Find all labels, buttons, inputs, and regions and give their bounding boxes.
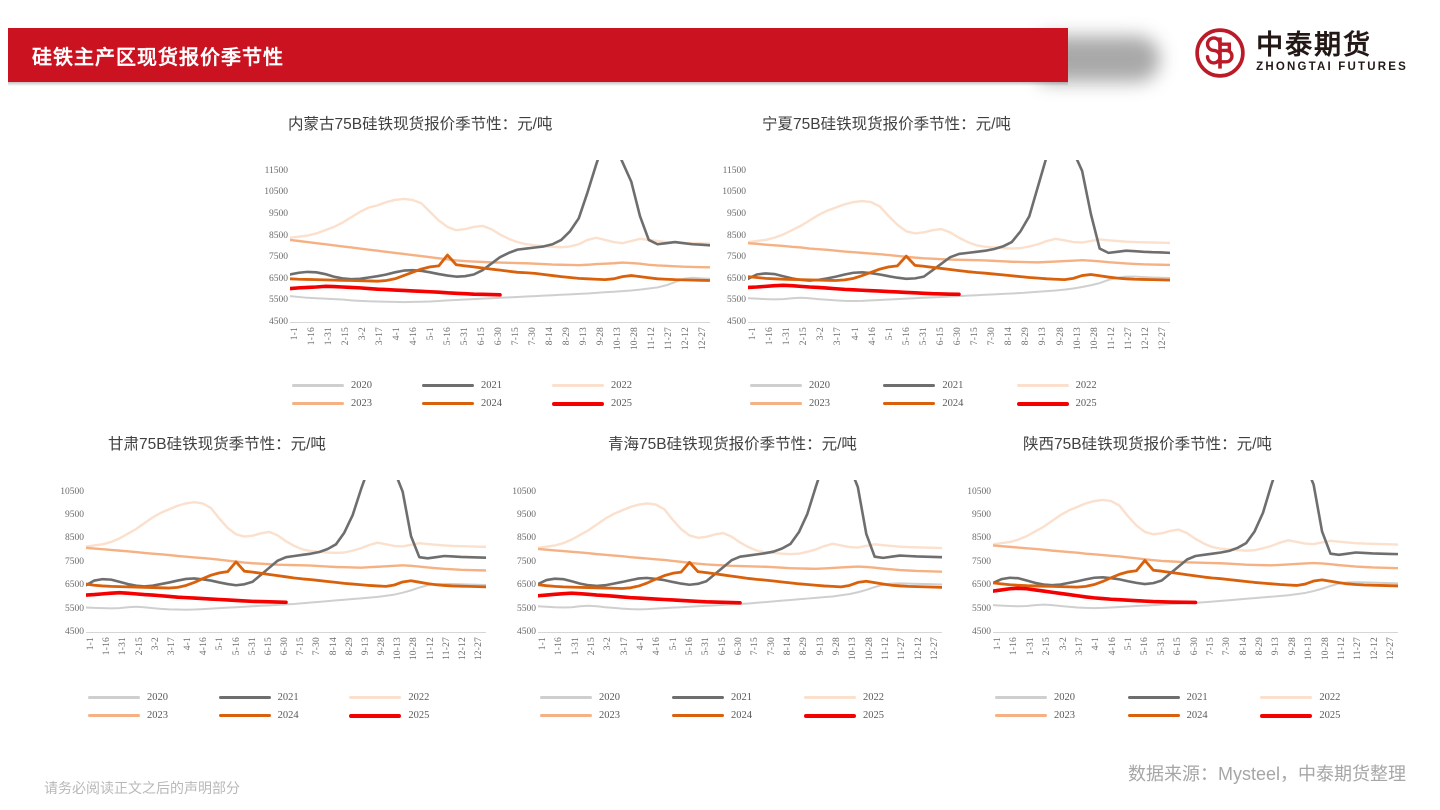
x-tick-label: 1-1 <box>748 327 758 340</box>
x-tick-label: 7-15 <box>1206 637 1216 655</box>
legend-label: 2025 <box>408 710 429 721</box>
x-tick-label: 5-1 <box>215 637 225 650</box>
series-line-2023 <box>290 240 710 267</box>
legend-swatch-2021 <box>672 696 724 699</box>
x-tick-label: 5-1 <box>426 327 436 340</box>
x-tick-label: 3-2 <box>358 327 368 340</box>
x-tick-label: 9-28 <box>1288 637 1298 655</box>
chart-block-gansu: 甘肃75B硅铁现货季节性：元/吨105009500850075006500550… <box>38 432 326 454</box>
y-tick-label: 6500 <box>269 274 288 284</box>
x-tick-label: 12-27 <box>1158 327 1168 350</box>
legend-label: 2021 <box>942 380 963 391</box>
series-line-2022 <box>290 199 710 247</box>
series-line-2022 <box>538 503 942 554</box>
title-bar-underline <box>8 82 1068 86</box>
series-line-2023 <box>538 549 942 572</box>
legend-label: 2020 <box>599 692 620 703</box>
legend-label: 2021 <box>731 692 752 703</box>
x-tick-label: 11-12 <box>647 327 657 350</box>
x-tick-label: 5-16 <box>685 637 695 655</box>
x-tick-label: 6-15 <box>1173 637 1183 655</box>
legend-label: 2022 <box>1076 380 1097 391</box>
y-tick-label: 6500 <box>727 274 746 284</box>
series-line-2022 <box>748 201 1170 249</box>
y-tick-label: 8500 <box>972 533 991 543</box>
series-line-2022 <box>993 500 1398 551</box>
x-tick-label: 8-14 <box>1004 327 1014 345</box>
legend-label: 2022 <box>1319 692 1340 703</box>
x-tick-label: 9-28 <box>832 637 842 655</box>
legend-item-2020[interactable]: 2020 <box>540 692 672 703</box>
chart-title: 宁夏75B硅铁现货报价季节性：元/吨 <box>762 112 1011 134</box>
x-tick-label: 1-16 <box>1009 637 1019 655</box>
legend-label: 2023 <box>351 398 372 409</box>
x-tick-label: 5-31 <box>701 637 711 655</box>
series-line-2025 <box>993 588 1196 602</box>
y-axis-labels: 10500950085007500650055004500 <box>42 480 90 632</box>
legend-item-2020[interactable]: 2020 <box>292 380 422 391</box>
legend-swatch-2020 <box>88 696 140 698</box>
page-header: 硅铁主产区现货报价季节性 中泰期货 ZHONGTAI FUTURES <box>0 0 1440 100</box>
series-line-2021 <box>290 160 710 279</box>
x-tick-label: 9-13 <box>361 637 371 655</box>
plot-area: 11500105009500850075006500550045001-11-1… <box>290 160 710 322</box>
x-tick-label: 12-12 <box>914 637 924 660</box>
logo-wordmark: 中泰期货 ZHONGTAI FUTURES <box>1256 31 1408 74</box>
x-tick-label: 6-15 <box>477 327 487 345</box>
x-tick-label: 7-15 <box>511 327 521 345</box>
x-axis-labels: 1-11-161-312-153-23-174-14-165-15-165-31… <box>290 327 710 367</box>
x-axis-labels: 1-11-161-312-153-23-174-14-165-15-165-31… <box>993 637 1398 677</box>
y-tick-label: 6500 <box>517 580 536 590</box>
legend-label: 2023 <box>599 710 620 721</box>
x-tick-label: 3-2 <box>151 637 161 650</box>
x-tick-label: 9-28 <box>596 327 606 345</box>
x-tick-label: 5-31 <box>248 637 258 655</box>
logo-chinese-name: 中泰期货 <box>1256 31 1408 59</box>
legend-swatch-2021 <box>1128 696 1180 699</box>
x-tick-label: 7-30 <box>1222 637 1232 655</box>
legend-swatch-2021 <box>422 384 474 387</box>
x-tick-label: 5-1 <box>885 327 895 340</box>
x-tick-label: 9-28 <box>1056 327 1066 345</box>
zhongtai-circle-logo-icon <box>1194 27 1246 79</box>
y-tick-label: 10500 <box>967 487 991 497</box>
x-tick-label: 4-1 <box>636 637 646 650</box>
x-tick-label: 11-27 <box>1124 327 1134 350</box>
x-tick-label: 11-12 <box>1337 637 1347 660</box>
x-tick-label: 7-30 <box>987 327 997 345</box>
chart-legend: 202020212022202320242025 <box>750 380 1150 409</box>
legend-item-2022[interactable]: 2022 <box>349 692 480 703</box>
y-tick-label: 4500 <box>517 627 536 637</box>
x-tick-label: 8-29 <box>1255 637 1265 655</box>
legend-swatch-2020 <box>292 384 344 386</box>
legend-swatch-2024 <box>883 402 935 405</box>
y-tick-label: 5500 <box>517 604 536 614</box>
y-tick-label: 8500 <box>269 231 288 241</box>
x-tick-label: 10-13 <box>1304 637 1314 660</box>
legend-label: 2023 <box>147 710 168 721</box>
x-tick-label: 10-13 <box>393 637 403 660</box>
x-tick-label: 1-31 <box>118 637 128 655</box>
legend-item-2021[interactable]: 2021 <box>1128 692 1261 703</box>
x-tick-label: 8-14 <box>329 637 339 655</box>
legend-item-2022[interactable]: 2022 <box>804 692 936 703</box>
x-tick-label: 10-13 <box>613 327 623 350</box>
y-tick-label: 5500 <box>727 295 746 305</box>
x-tick-label: 12-27 <box>698 327 708 350</box>
x-tick-label: 4-16 <box>868 327 878 345</box>
legend-item-2020[interactable]: 2020 <box>995 692 1128 703</box>
chart-title: 陕西75B硅铁现货报价季节性：元/吨 <box>1023 432 1272 454</box>
x-tick-label: 12-12 <box>1370 637 1380 660</box>
x-tick-label: 11-12 <box>426 637 436 660</box>
chart-block-ningxia: 宁夏75B硅铁现货报价季节性：元/吨1150010500950085007500… <box>700 112 1011 134</box>
legend-label: 2022 <box>863 692 884 703</box>
x-tick-label: 6-30 <box>494 327 504 345</box>
legend-swatch-2021 <box>219 696 271 699</box>
x-tick-label: 6-15 <box>718 637 728 655</box>
y-tick-label: 10500 <box>60 487 84 497</box>
x-tick-label: 5-16 <box>443 327 453 345</box>
x-tick-label: 1-16 <box>554 637 564 655</box>
legend-item-2022[interactable]: 2022 <box>552 380 682 391</box>
legend-item-2024[interactable]: 2024 <box>219 710 350 721</box>
plot-lines <box>993 480 1398 633</box>
x-tick-label: 1-1 <box>290 327 300 340</box>
x-tick-label: 4-16 <box>409 327 419 345</box>
x-tick-label: 4-1 <box>1091 637 1101 650</box>
x-tick-label: 5-16 <box>232 637 242 655</box>
x-tick-label: 7-30 <box>528 327 538 345</box>
y-tick-label: 9500 <box>65 510 84 520</box>
legend-item-2025[interactable]: 2025 <box>552 398 682 409</box>
y-tick-label: 7500 <box>727 252 746 262</box>
y-axis-labels: 10500950085007500650055004500 <box>494 480 542 632</box>
x-tick-label: 3-17 <box>167 637 177 655</box>
x-tick-label: 5-16 <box>1140 637 1150 655</box>
legend-swatch-2025 <box>804 714 856 718</box>
x-tick-label: 8-29 <box>1021 327 1031 345</box>
x-tick-label: 12-27 <box>474 637 484 660</box>
legend-item-2023[interactable]: 2023 <box>88 710 219 721</box>
x-tick-label: 1-1 <box>538 637 548 650</box>
plot-area: 105009500850075006500550045001-11-161-31… <box>538 480 942 632</box>
x-tick-label: 8-14 <box>545 327 555 345</box>
x-tick-label: 9-13 <box>816 637 826 655</box>
x-tick-label: 12-12 <box>681 327 691 350</box>
x-tick-label: 9-13 <box>1271 637 1281 655</box>
legend-item-2024[interactable]: 2024 <box>672 710 804 721</box>
x-tick-label: 2-15 <box>587 637 597 655</box>
legend-swatch-2025 <box>552 402 604 406</box>
chart-legend: 202020212022202320242025 <box>292 380 682 409</box>
legend-label: 2025 <box>611 398 632 409</box>
legend-label: 2022 <box>408 692 429 703</box>
x-tick-label: 8-14 <box>1239 637 1249 655</box>
x-tick-label: 3-2 <box>1059 637 1069 650</box>
y-tick-label: 5500 <box>972 604 991 614</box>
x-tick-label: 1-16 <box>765 327 775 345</box>
series-line-2025 <box>748 285 959 294</box>
legend-label: 2025 <box>1076 398 1097 409</box>
legend-swatch-2023 <box>540 714 592 717</box>
legend-label: 2021 <box>481 380 502 391</box>
x-tick-label: 5-31 <box>460 327 470 345</box>
x-tick-label: 11-27 <box>897 637 907 660</box>
y-tick-label: 4500 <box>65 627 84 637</box>
y-tick-label: 4500 <box>972 627 991 637</box>
y-tick-label: 9500 <box>972 510 991 520</box>
y-tick-label: 5500 <box>65 604 84 614</box>
x-tick-label: 7-15 <box>750 637 760 655</box>
x-tick-label: 1-1 <box>86 637 96 650</box>
x-tick-label: 11-27 <box>442 637 452 660</box>
y-tick-label: 8500 <box>727 231 746 241</box>
x-tick-label: 4-1 <box>183 637 193 650</box>
legend-item-2025[interactable]: 2025 <box>1017 398 1150 409</box>
x-tick-label: 8-29 <box>799 637 809 655</box>
x-tick-label: 10-13 <box>848 637 858 660</box>
y-tick-label: 7500 <box>65 557 84 567</box>
legend-label: 2024 <box>731 710 752 721</box>
x-tick-label: 6-30 <box>1190 637 1200 655</box>
x-tick-label: 1-16 <box>307 327 317 345</box>
x-tick-label: 5-31 <box>1157 637 1167 655</box>
x-tick-label: 2-15 <box>341 327 351 345</box>
legend-label: 2024 <box>481 398 502 409</box>
legend-item-2025[interactable]: 2025 <box>349 710 480 721</box>
legend-item-2020[interactable]: 2020 <box>750 380 883 391</box>
plot-lines <box>748 160 1170 323</box>
series-line-2025 <box>86 593 286 603</box>
legend-swatch-2022 <box>552 384 604 387</box>
x-tick-label: 1-16 <box>102 637 112 655</box>
legend-swatch-2020 <box>750 384 802 386</box>
legend-item-2023[interactable]: 2023 <box>292 398 422 409</box>
x-tick-label: 10-28 <box>865 637 875 660</box>
legend-item-2021[interactable]: 2021 <box>422 380 552 391</box>
y-tick-label: 9500 <box>517 510 536 520</box>
y-tick-label: 10500 <box>512 487 536 497</box>
legend-label: 2023 <box>809 398 830 409</box>
plot-area: 105009500850075006500550045001-11-161-31… <box>86 480 486 632</box>
y-tick-label: 6500 <box>65 580 84 590</box>
y-tick-label: 7500 <box>269 252 288 262</box>
x-tick-label: 2-15 <box>799 327 809 345</box>
x-axis-labels: 1-11-161-312-153-23-174-14-165-15-165-31… <box>538 637 942 677</box>
x-tick-label: 12-12 <box>1141 327 1151 350</box>
legend-swatch-2022 <box>1017 384 1069 387</box>
x-tick-label: 12-12 <box>458 637 468 660</box>
y-tick-label: 8500 <box>517 533 536 543</box>
x-tick-label: 10-28 <box>1321 637 1331 660</box>
x-tick-label: 8-14 <box>783 637 793 655</box>
plot-area: 11500105009500850075006500550045001-11-1… <box>748 160 1170 322</box>
x-tick-label: 9-13 <box>1038 327 1048 345</box>
x-tick-label: 4-16 <box>1108 637 1118 655</box>
plot-lines <box>290 160 710 323</box>
y-tick-label: 9500 <box>269 209 288 219</box>
x-tick-label: 5-31 <box>919 327 929 345</box>
x-tick-label: 4-16 <box>199 637 209 655</box>
legend-swatch-2024 <box>422 402 474 405</box>
legend-item-2020[interactable]: 2020 <box>88 692 219 703</box>
x-tick-label: 11-27 <box>664 327 674 350</box>
x-tick-label: 3-17 <box>375 327 385 345</box>
x-tick-label: 7-30 <box>767 637 777 655</box>
footer-data-source: 数据来源：Mysteel，中泰期货整理 <box>1128 760 1406 786</box>
legend-item-2024[interactable]: 2024 <box>883 398 1016 409</box>
y-axis-labels: 1150010500950085007500650055004500 <box>240 160 294 322</box>
chart-block-neimenggu: 内蒙古75B硅铁现货报价季节性：元/吨115001050095008500750… <box>236 112 552 134</box>
x-tick-label: 1-1 <box>993 637 1003 650</box>
legend-swatch-2022 <box>1260 696 1312 699</box>
x-tick-label: 4-1 <box>392 327 402 340</box>
x-tick-label: 11-12 <box>1107 327 1117 350</box>
x-tick-label: 3-2 <box>816 327 826 340</box>
legend-swatch-2020 <box>995 696 1047 698</box>
x-tick-label: 6-15 <box>936 327 946 345</box>
legend-item-2024[interactable]: 2024 <box>422 398 552 409</box>
legend-item-2025[interactable]: 2025 <box>1260 710 1393 721</box>
y-tick-label: 7500 <box>972 557 991 567</box>
legend-item-2025[interactable]: 2025 <box>804 710 936 721</box>
legend-swatch-2023 <box>995 714 1047 717</box>
legend-swatch-2023 <box>292 402 344 405</box>
legend-item-2023[interactable]: 2023 <box>995 710 1128 721</box>
chart-legend: 202020212022202320242025 <box>995 692 1393 721</box>
plot-area: 105009500850075006500550045001-11-161-31… <box>993 480 1398 632</box>
x-tick-label: 9-13 <box>579 327 589 345</box>
x-tick-label: 8-29 <box>562 327 572 345</box>
legend-swatch-2024 <box>672 714 724 717</box>
legend-item-2021[interactable]: 2021 <box>883 380 1016 391</box>
x-tick-label: 2-15 <box>135 637 145 655</box>
plot-lines <box>86 480 486 633</box>
legend-item-2022[interactable]: 2022 <box>1260 692 1393 703</box>
x-tick-label: 1-31 <box>782 327 792 345</box>
chart-title: 甘肃75B硅铁现货季节性：元/吨 <box>108 432 326 454</box>
x-tick-label: 3-17 <box>620 637 630 655</box>
x-tick-label: 1-31 <box>571 637 581 655</box>
y-tick-label: 4500 <box>727 317 746 327</box>
x-tick-label: 7-15 <box>970 327 980 345</box>
legend-swatch-2020 <box>540 696 592 698</box>
y-tick-label: 11500 <box>265 166 288 176</box>
legend-item-2024[interactable]: 2024 <box>1128 710 1261 721</box>
legend-item-2021[interactable]: 2021 <box>219 692 350 703</box>
x-tick-label: 5-16 <box>902 327 912 345</box>
x-tick-label: 10-28 <box>630 327 640 350</box>
legend-label: 2020 <box>809 380 830 391</box>
x-axis-labels: 1-11-161-312-153-23-174-14-165-15-165-31… <box>86 637 486 677</box>
legend-label: 2020 <box>351 380 372 391</box>
series-line-2025 <box>290 286 500 294</box>
legend-swatch-2024 <box>219 714 271 717</box>
series-line-2021 <box>86 480 486 586</box>
series-line-2024 <box>290 255 710 281</box>
plot-lines <box>538 480 942 633</box>
x-tick-label: 3-17 <box>833 327 843 345</box>
legend-item-2022[interactable]: 2022 <box>1017 380 1150 391</box>
logo-english-name: ZHONGTAI FUTURES <box>1256 60 1408 75</box>
legend-label: 2025 <box>863 710 884 721</box>
x-tick-label: 6-15 <box>264 637 274 655</box>
x-tick-label: 4-16 <box>652 637 662 655</box>
chart-title: 青海75B硅铁现货报价季节性：元/吨 <box>608 432 857 454</box>
y-tick-label: 4500 <box>269 317 288 327</box>
x-tick-label: 4-1 <box>851 327 861 340</box>
legend-label: 2022 <box>611 380 632 391</box>
legend-label: 2025 <box>1319 710 1340 721</box>
title-bar: 硅铁主产区现货报价季节性 <box>8 28 1068 82</box>
y-axis-labels: 10500950085007500650055004500 <box>949 480 997 632</box>
y-tick-label: 5500 <box>269 295 288 305</box>
x-tick-label: 1-31 <box>324 327 334 345</box>
x-tick-label: 7-15 <box>296 637 306 655</box>
y-tick-label: 10500 <box>722 187 746 197</box>
y-tick-label: 10500 <box>264 187 288 197</box>
chart-title: 内蒙古75B硅铁现货报价季节性：元/吨 <box>288 112 552 134</box>
series-line-2021 <box>993 480 1398 585</box>
x-tick-label: 6-30 <box>953 327 963 345</box>
y-tick-label: 8500 <box>65 533 84 543</box>
x-tick-label: 3-2 <box>603 637 613 650</box>
y-tick-label: 11500 <box>723 166 746 176</box>
legend-swatch-2025 <box>349 714 401 718</box>
legend-item-2023[interactable]: 2023 <box>540 710 672 721</box>
footer-disclaimer: 请务必阅读正文之后的声明部分 <box>44 778 240 798</box>
legend-swatch-2022 <box>349 696 401 699</box>
x-tick-label: 9-28 <box>377 637 387 655</box>
x-tick-label: 12-27 <box>930 637 940 660</box>
x-tick-label: 10-13 <box>1073 327 1083 350</box>
legend-label: 2020 <box>1054 692 1075 703</box>
y-axis-labels: 1150010500950085007500650055004500 <box>704 160 752 322</box>
legend-swatch-2021 <box>883 384 935 387</box>
series-line-2025 <box>538 593 740 603</box>
chart-legend: 202020212022202320242025 <box>88 692 480 721</box>
x-tick-label: 12-27 <box>1386 637 1396 660</box>
x-tick-label: 11-12 <box>881 637 891 660</box>
chart-legend: 202020212022202320242025 <box>540 692 936 721</box>
brand-logo: 中泰期货 ZHONGTAI FUTURES <box>1194 27 1408 79</box>
x-tick-label: 11-27 <box>1353 637 1363 660</box>
legend-item-2023[interactable]: 2023 <box>750 398 883 409</box>
x-axis-labels: 1-11-161-312-153-23-174-14-165-15-165-31… <box>748 327 1170 367</box>
legend-label: 2020 <box>147 692 168 703</box>
chart-block-qinghai: 青海75B硅铁现货报价季节性：元/吨1050095008500750065005… <box>490 432 857 454</box>
series-line-2022 <box>86 502 486 553</box>
x-tick-label: 3-17 <box>1075 637 1085 655</box>
legend-swatch-2023 <box>88 714 140 717</box>
legend-label: 2024 <box>1187 710 1208 721</box>
x-tick-label: 10-28 <box>409 637 419 660</box>
x-tick-label: 1-31 <box>1026 637 1036 655</box>
x-tick-label: 5-1 <box>1124 637 1134 650</box>
legend-label: 2021 <box>278 692 299 703</box>
chart-block-shaanxi: 陕西75B硅铁现货报价季节性：元/吨1050095008500750065005… <box>945 432 1272 454</box>
legend-item-2021[interactable]: 2021 <box>672 692 804 703</box>
legend-label: 2021 <box>1187 692 1208 703</box>
x-tick-label: 6-30 <box>734 637 744 655</box>
x-tick-label: 10-28 <box>1090 327 1100 350</box>
legend-label: 2023 <box>1054 710 1075 721</box>
legend-swatch-2022 <box>804 696 856 699</box>
page-title: 硅铁主产区现货报价季节性 <box>32 41 284 70</box>
